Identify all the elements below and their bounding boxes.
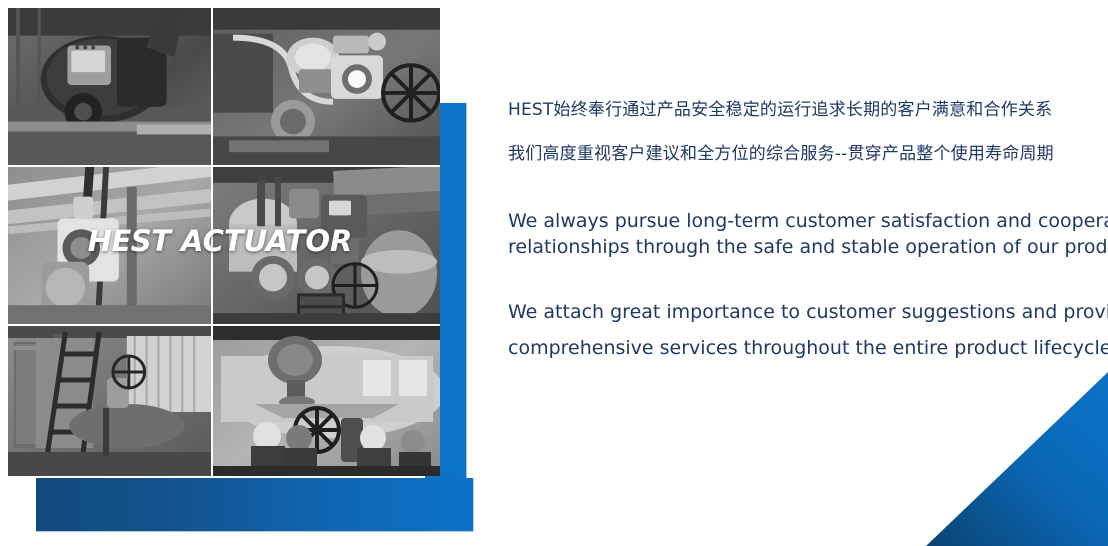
blue-bottom-accent-band — [36, 478, 473, 531]
collage-photo-5 — [8, 326, 213, 476]
collage-photo-4 — [213, 167, 440, 326]
chinese-paragraph-2: 我们高度重视客户建议和全方位的综合服务--贯穿产品整个使用寿命周期 — [508, 132, 1088, 176]
collage-photo-6 — [213, 326, 440, 476]
english-paragraph-1: We always pursue long-term customer sati… — [508, 208, 1088, 260]
english-paragraph-1-line-1: We always pursue long-term customer sati… — [508, 208, 1088, 234]
text-column: HEST始终奉行通过产品安全稳定的运行追求长期的客户满意和合作关系 我们高度重视… — [508, 88, 1088, 366]
english-paragraph-1-line-2: relationships through the safe and stabl… — [508, 234, 1088, 260]
english-paragraph-2-line-2: comprehensive services throughout the en… — [508, 330, 1088, 366]
collage-photo-3 — [8, 167, 213, 326]
english-paragraph-2-line-1: We attach great importance to customer s… — [508, 294, 1088, 330]
chinese-paragraph-1: HEST始终奉行通过产品安全稳定的运行追求长期的客户满意和合作关系 — [508, 88, 1088, 132]
collage-photo-1 — [8, 8, 213, 167]
slide-canvas: HEST ACTUATOR HEST始终奉行通过产品安全稳定的运行追求长期的客户… — [0, 0, 1108, 546]
collage-photo-2 — [213, 8, 440, 167]
photo-collage — [8, 8, 440, 476]
blue-corner-triangle — [918, 354, 1108, 546]
english-paragraph-2: We attach great importance to customer s… — [508, 294, 1088, 366]
